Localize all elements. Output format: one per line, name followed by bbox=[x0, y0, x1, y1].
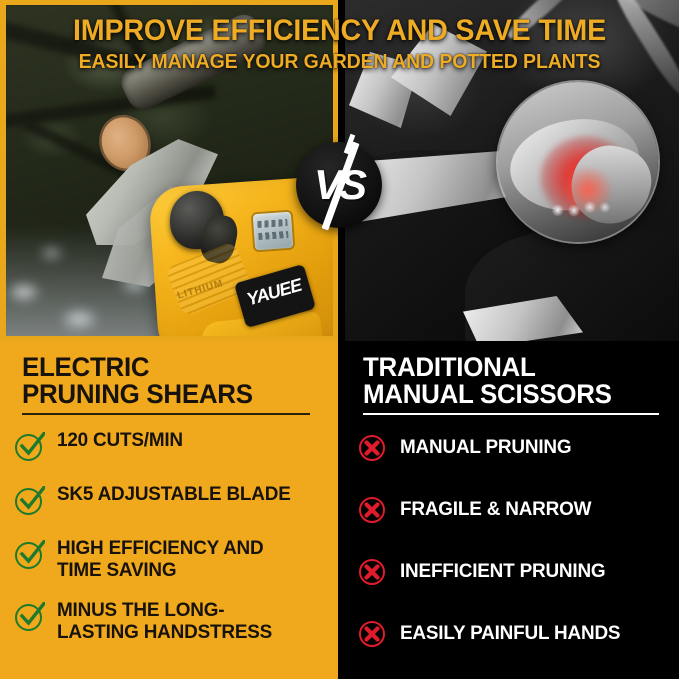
column-manual: TRADITIONAL MANUAL SCISSORS MANUAL PRUNI… bbox=[345, 341, 679, 679]
feature-list-manual: MANUAL PRUNING FRAGILE & NARROW INEFFICI… bbox=[357, 429, 673, 677]
feature-label: MINUS THE LONG- LASTING HANDSTRESS bbox=[57, 599, 272, 643]
feature-label: EASILY PAINFUL HANDS bbox=[400, 622, 620, 644]
heading-divider bbox=[363, 413, 659, 415]
heading-line-1: ELECTRIC bbox=[22, 354, 253, 381]
heading-line-2: PRUNING SHEARS bbox=[22, 381, 253, 408]
check-circle-icon bbox=[14, 431, 48, 465]
feature-list-electric: 120 CUTS/MIN SK5 ADJUSTABLE BLADE HIGH E… bbox=[14, 429, 332, 661]
list-item: MINUS THE LONG- LASTING HANDSTRESS bbox=[14, 599, 332, 643]
column-electric: ELECTRIC PRUNING SHEARS 120 CUTS/MIN bbox=[0, 341, 338, 679]
vs-badge: VS bbox=[296, 142, 382, 228]
x-circle-icon bbox=[357, 431, 391, 465]
column-heading-electric: ELECTRIC PRUNING SHEARS bbox=[22, 354, 262, 408]
heading-line-2: MANUAL SCISSORS bbox=[363, 381, 612, 408]
list-item: SK5 ADJUSTABLE BLADE bbox=[14, 483, 332, 519]
feature-label: 120 CUTS/MIN bbox=[57, 429, 183, 451]
photo-band: LITHIUM YAUEE bbox=[0, 0, 679, 341]
feature-label: MANUAL PRUNING bbox=[400, 436, 571, 458]
comparison-infographic: LITHIUM YAUEE bbox=[0, 0, 679, 679]
list-item: EASILY PAINFUL HANDS bbox=[357, 615, 673, 651]
x-circle-icon bbox=[357, 555, 391, 589]
list-item: HIGH EFFICIENCY AND TIME SAVING bbox=[14, 537, 332, 581]
list-item: 120 CUTS/MIN bbox=[14, 429, 332, 465]
feature-label: FRAGILE & NARROW bbox=[400, 498, 591, 520]
feature-label: HIGH EFFICIENCY AND TIME SAVING bbox=[57, 537, 264, 581]
comparison-columns: ELECTRIC PRUNING SHEARS 120 CUTS/MIN bbox=[0, 341, 679, 679]
feature-label: INEFFICIENT PRUNING bbox=[400, 560, 605, 582]
list-item: INEFFICIENT PRUNING bbox=[357, 553, 673, 589]
list-item: FRAGILE & NARROW bbox=[357, 491, 673, 527]
lcd-display bbox=[253, 212, 293, 251]
check-circle-icon bbox=[14, 539, 48, 573]
check-circle-icon bbox=[14, 485, 48, 519]
feature-label: SK5 ADJUSTABLE BLADE bbox=[57, 483, 291, 505]
check-circle-icon bbox=[14, 601, 48, 635]
manual-scissors-photo bbox=[345, 0, 679, 341]
heading-line-1: TRADITIONAL bbox=[363, 354, 612, 381]
electric-pruning-shears-photo: LITHIUM YAUEE bbox=[0, 0, 338, 341]
x-circle-icon bbox=[357, 617, 391, 651]
pain-closeup-inset bbox=[498, 82, 658, 242]
list-item: MANUAL PRUNING bbox=[357, 429, 673, 465]
heading-divider bbox=[22, 413, 310, 415]
x-circle-icon bbox=[357, 493, 391, 527]
column-heading-manual: TRADITIONAL MANUAL SCISSORS bbox=[363, 354, 622, 408]
